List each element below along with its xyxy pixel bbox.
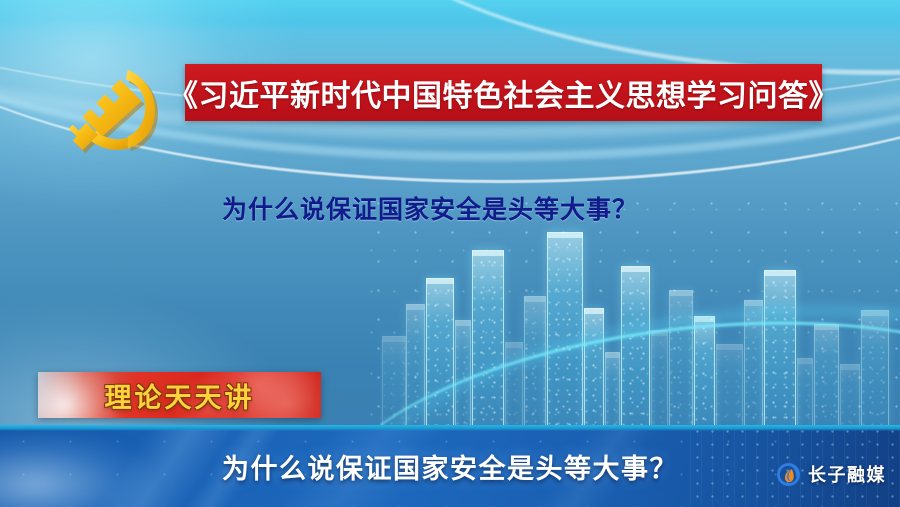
broadcast-frame: 《习近平新时代中国特色社会主义思想学习问答》 为什么说保证国家安全是头等大事？ …	[0, 0, 900, 507]
program-name-banner: 理论天天讲	[38, 372, 321, 418]
program-name-text: 理论天天讲	[105, 376, 255, 415]
caption-text: 为什么说保证国家安全是头等大事？	[0, 447, 900, 486]
lower-third-bar: 为什么说保证国家安全是头等大事？ 长子融媒	[0, 425, 900, 507]
lower-third-top-edge	[0, 425, 900, 431]
channel-logo-text: 长子融媒	[808, 461, 886, 487]
book-title-text: 《习近平新时代中国特色社会主义思想学习问答》	[168, 71, 839, 115]
question-heading: 为什么说保证国家安全是头等大事？	[0, 190, 860, 226]
swirl-logo-icon	[777, 463, 800, 486]
digital-cityscape	[380, 199, 900, 429]
book-title-banner: 《习近平新时代中国特色社会主义思想学习问答》	[185, 64, 822, 121]
channel-logo: 长子融媒	[777, 461, 886, 487]
hammer-and-sickle-icon	[56, 50, 174, 168]
